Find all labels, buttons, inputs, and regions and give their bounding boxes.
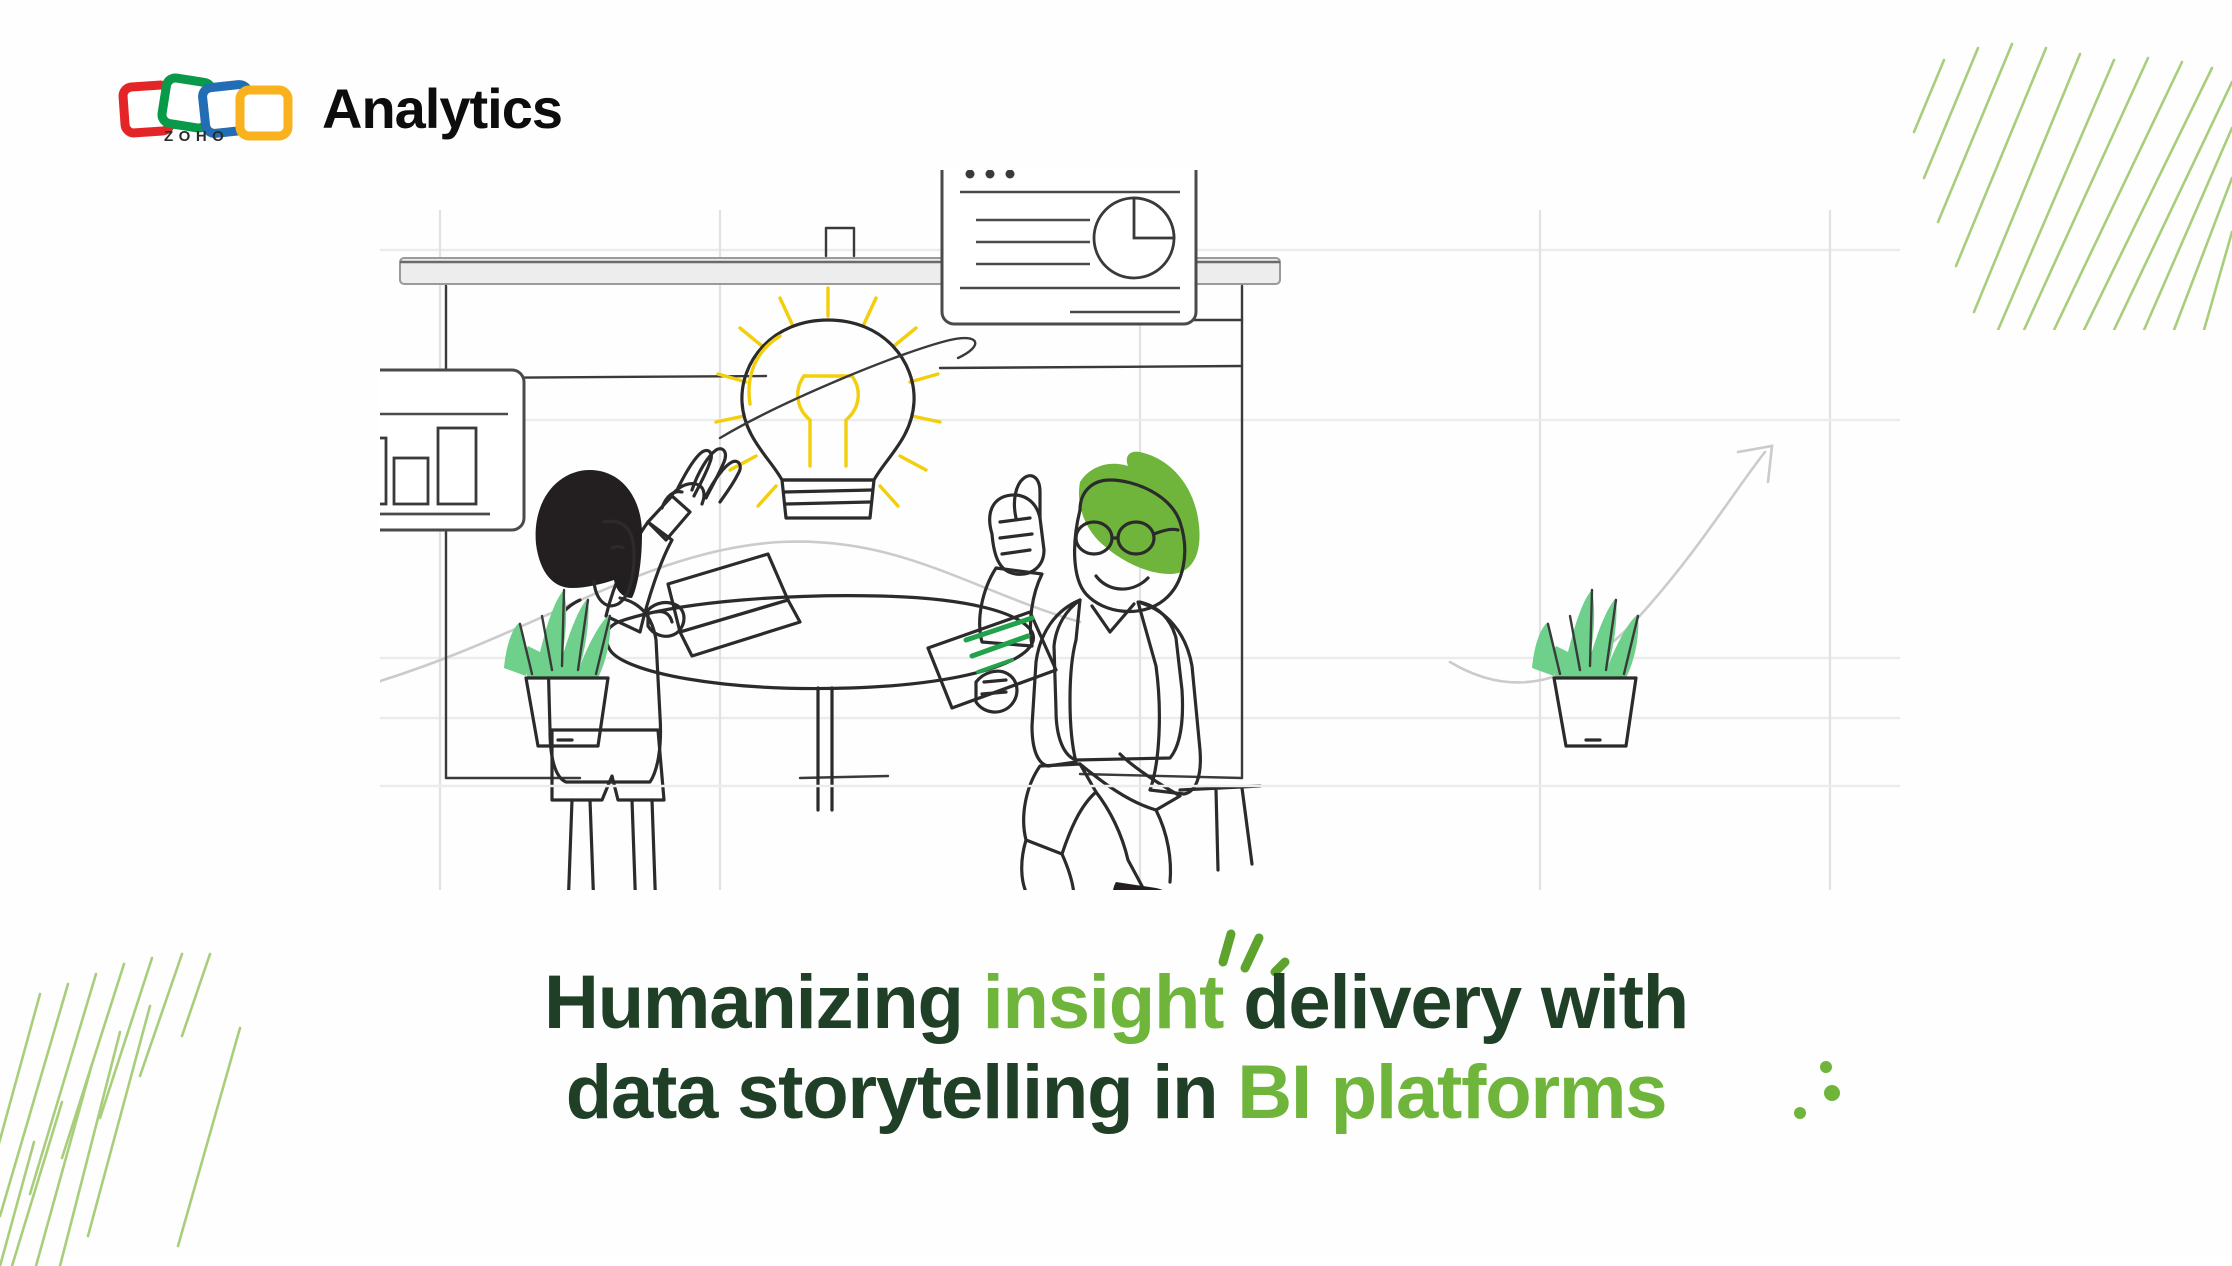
- headline-l1-part2: delivery with: [1223, 960, 1688, 1045]
- headline-l1-part1: Humanizing: [544, 960, 983, 1045]
- page-headline: Humanizing insight delivery with data st…: [0, 958, 2232, 1137]
- headline-line-2: data storytelling in BI platforms: [0, 1048, 2232, 1138]
- brand-logo[interactable]: ZOHO Analytics: [118, 72, 562, 150]
- product-name: Analytics: [322, 81, 562, 137]
- headline-line-1: Humanizing insight delivery with: [0, 958, 2232, 1048]
- potted-plant-left: [504, 590, 610, 746]
- colleague-man: [928, 452, 1260, 890]
- headline-l1-accent: insight: [983, 960, 1224, 1045]
- potted-plant-right: [1532, 590, 1638, 746]
- zoho-wordmark: ZOHO: [164, 128, 229, 145]
- headline-l2-accent: BI platforms: [1237, 1050, 1666, 1135]
- zoho-four-squares-logo: ZOHO: [118, 72, 296, 150]
- illustration-scene: .sk { fill:none; stroke:#2b2b2b; stroke-…: [380, 170, 1900, 890]
- idea-lightbulb-icon: [716, 288, 975, 518]
- bar-chart-card: [380, 370, 524, 530]
- pie-chart-dashboard-card: [942, 170, 1196, 324]
- woman-laptop: [648, 554, 800, 656]
- hatch-top-right: [1852, 0, 2232, 330]
- headline-l2-part1: data storytelling in: [566, 1050, 1238, 1135]
